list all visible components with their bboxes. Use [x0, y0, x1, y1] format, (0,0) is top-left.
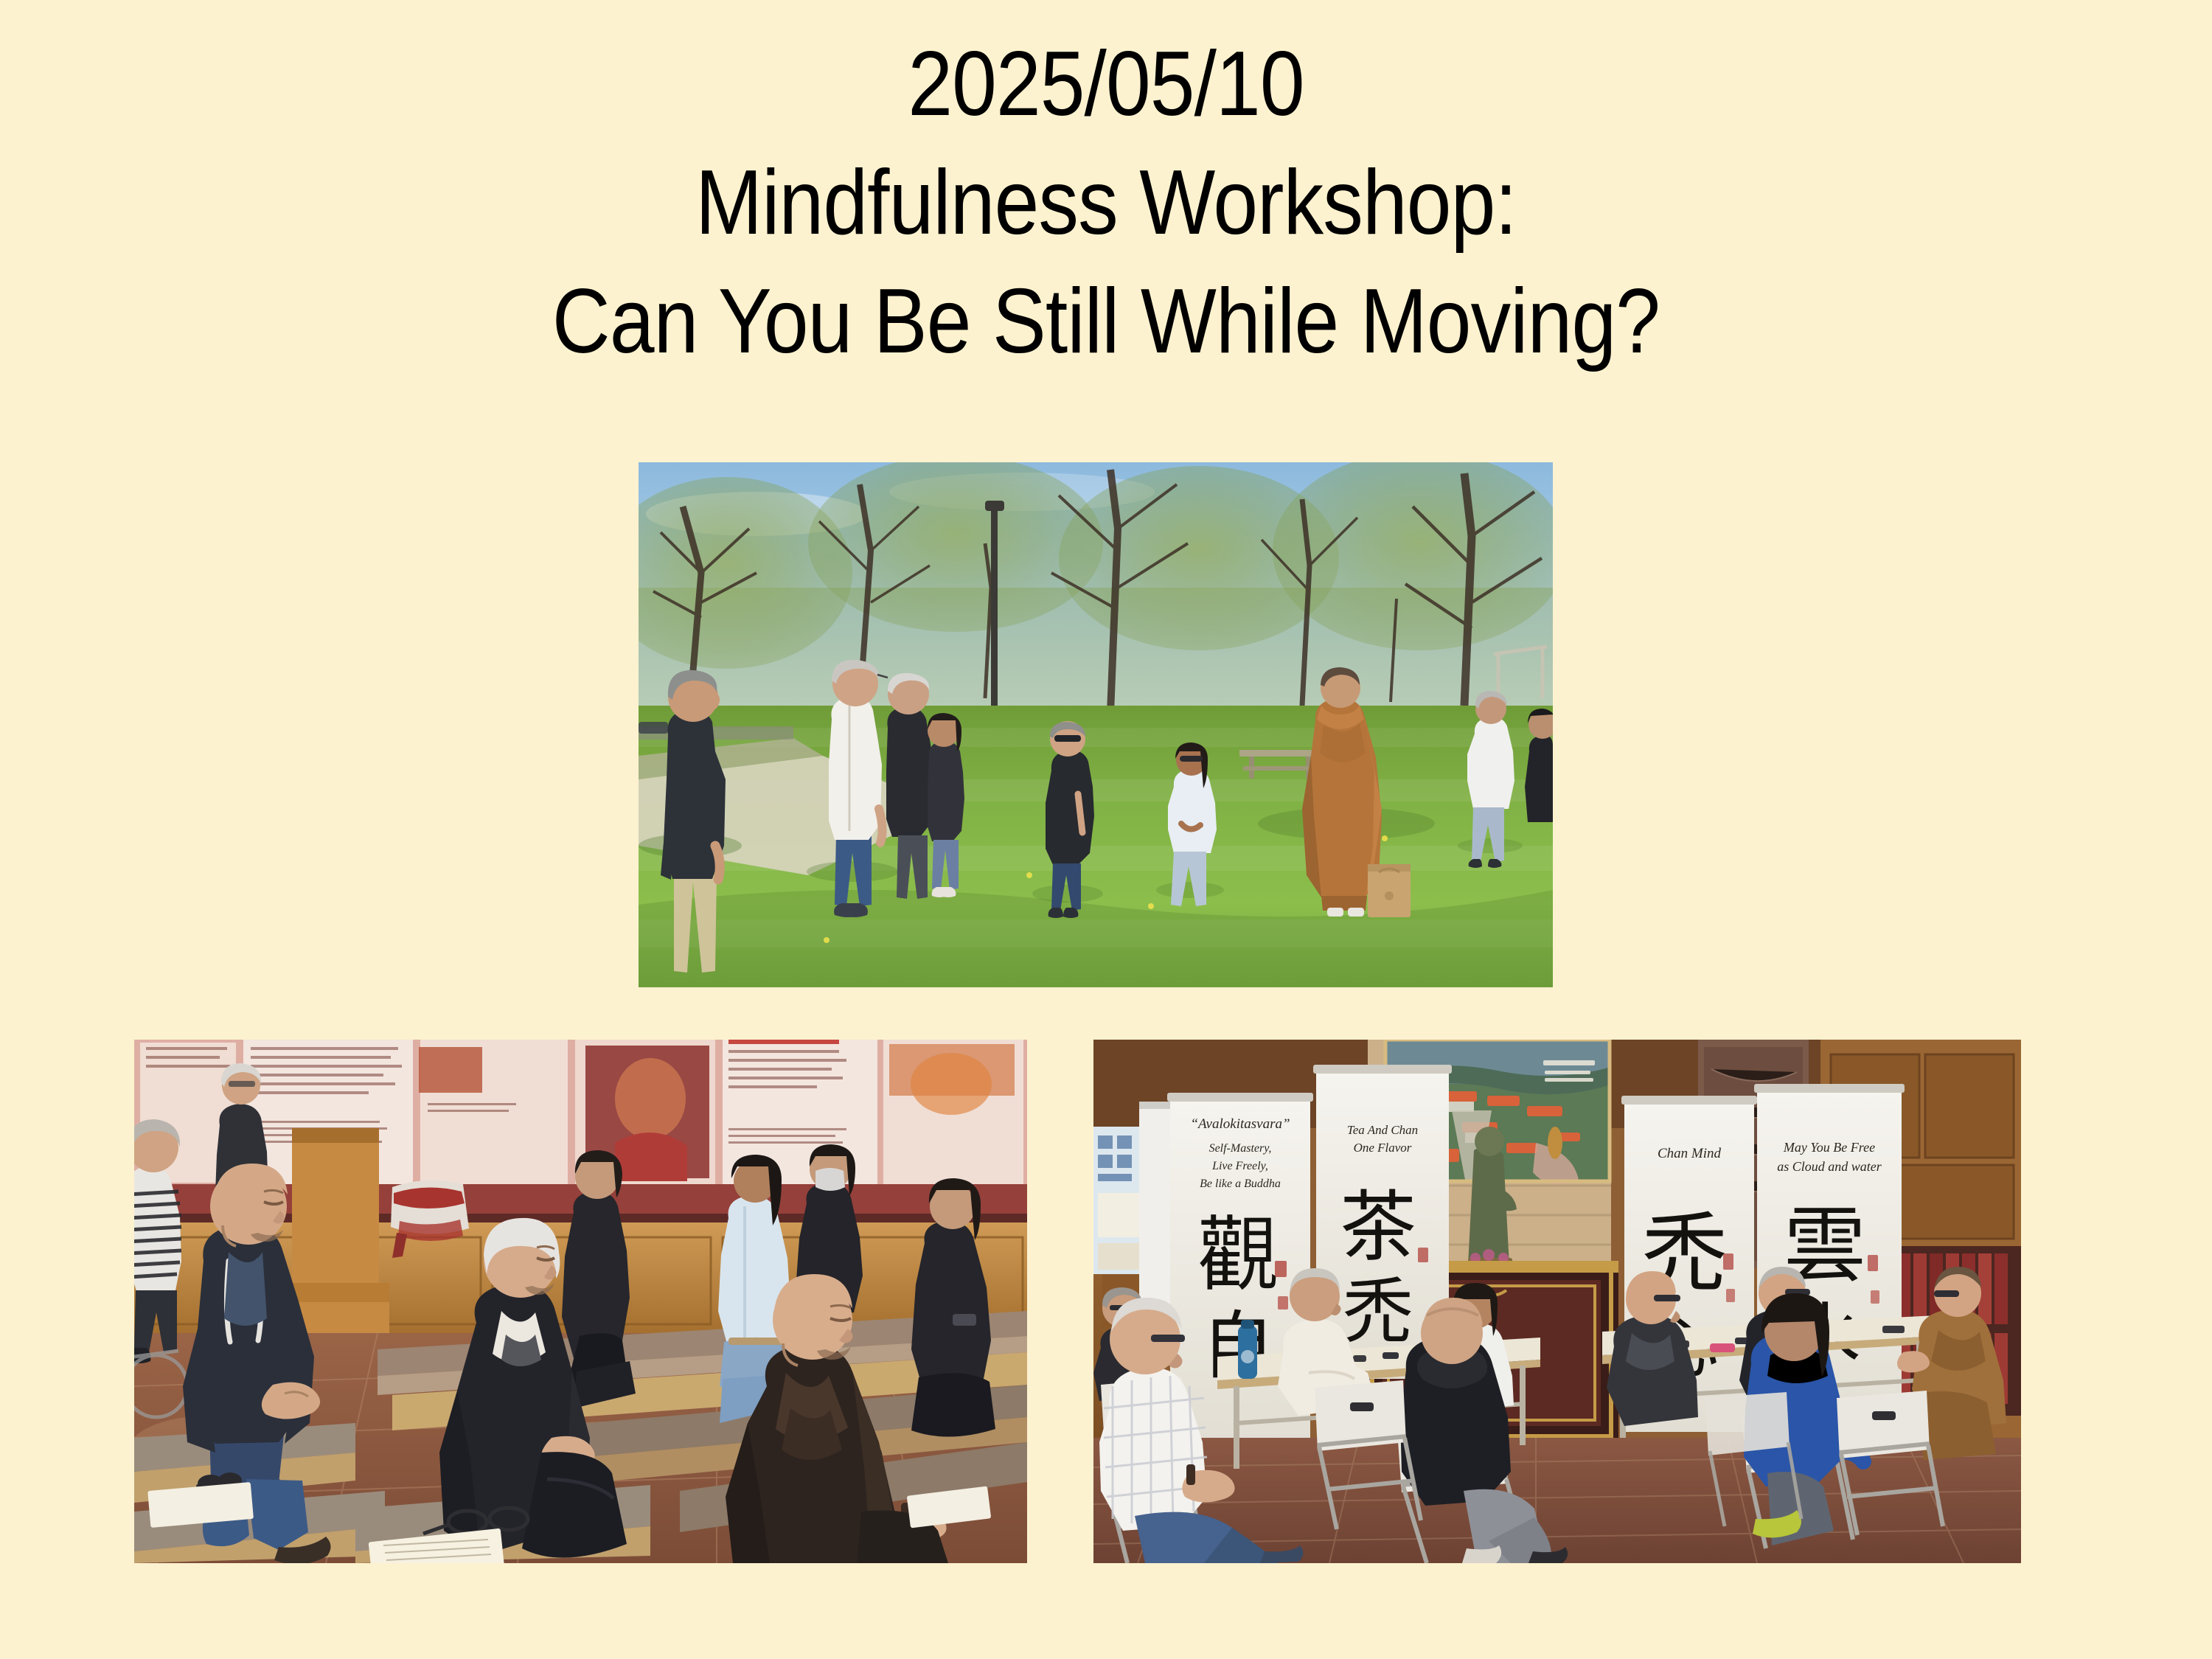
svg-text:觀: 觀 — [1197, 1208, 1279, 1302]
title-line-3: Can You Be Still While Moving? — [133, 262, 2079, 381]
svg-text:Live Freely,: Live Freely, — [1211, 1160, 1268, 1172]
participant-far-right-dark — [1525, 709, 1553, 822]
svg-text:禿: 禿 — [1343, 1270, 1413, 1353]
tea-and-chan-discussion-photo: “Avalokitasvara” Self-Mastery, Live Free… — [1093, 1040, 2021, 1563]
svg-text:Self-Mastery,: Self-Mastery, — [1209, 1142, 1272, 1155]
title-date: 2025/05/10 — [133, 25, 2079, 144]
page-title: 2025/05/10 Mindfulness Workshop: Can You… — [133, 25, 2079, 382]
outdoor-scene-illustration — [639, 462, 1553, 987]
slide-canvas: 2025/05/10 Mindfulness Workshop: Can You… — [0, 0, 2212, 1659]
svg-text:May You Be Free: May You Be Free — [1783, 1140, 1875, 1155]
svg-text:Chan Mind: Chan Mind — [1658, 1146, 1722, 1161]
tea-and-chan-illustration: “Avalokitasvara” Self-Mastery, Live Free… — [1093, 1040, 2021, 1563]
svg-text:One Flavor: One Flavor — [1354, 1141, 1412, 1155]
meditation-hall-sitting-photo — [134, 1040, 1027, 1563]
svg-text:as Cloud and water: as Cloud and water — [1777, 1159, 1882, 1174]
title-line-2: Mindfulness Workshop: — [133, 144, 2079, 262]
svg-text:Tea And Chan: Tea And Chan — [1347, 1123, 1418, 1137]
outdoor-standing-meditation-photo — [639, 462, 1553, 987]
svg-text:“Avalokitasvara”: “Avalokitasvara” — [1190, 1116, 1290, 1132]
svg-text:茶: 茶 — [1340, 1182, 1416, 1272]
meditation-hall-illustration — [134, 1040, 1027, 1563]
svg-text:Be like a Buddha: Be like a Buddha — [1200, 1178, 1281, 1190]
